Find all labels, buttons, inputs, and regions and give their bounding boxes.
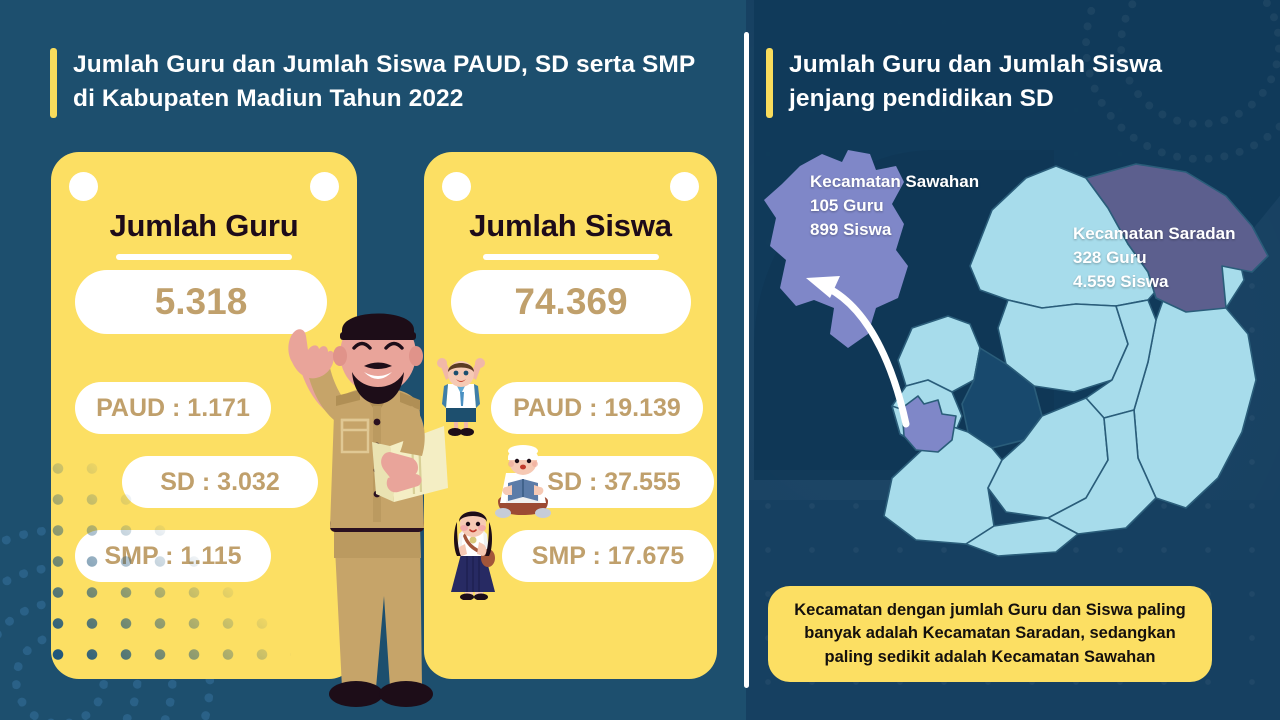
card-siswa-underline xyxy=(483,254,659,260)
title-accent-bar-right xyxy=(766,48,773,118)
punch-hole-icon xyxy=(442,172,471,201)
map-label-saradan-name: Kecamatan Saradan xyxy=(1073,222,1280,246)
left-title-block: Jumlah Guru dan Jumlah Siswa PAUD, SD se… xyxy=(50,48,710,118)
punch-hole-icon xyxy=(670,172,699,201)
card-siswa-total-value: 74.369 xyxy=(451,270,691,334)
student-paud-illustration xyxy=(430,358,492,436)
card-guru-title: Jumlah Guru xyxy=(51,208,357,244)
infographic-canvas: Jumlah Guru dan Jumlah Siswa PAUD, SD se… xyxy=(0,0,1280,720)
title-accent-bar-left xyxy=(50,48,57,118)
card-siswa-title: Jumlah Siswa xyxy=(424,208,717,244)
card-guru-row-paud: PAUD : 1.171 xyxy=(75,382,271,434)
map-caption: Kecamatan dengan jumlah Guru dan Siswa p… xyxy=(768,586,1212,682)
card-siswa-row-smp: SMP : 17.675 xyxy=(502,530,714,582)
map-label-saradan-siswa: 4.559 Siswa xyxy=(1073,270,1280,294)
right-title-text: Jumlah Guru dan Jumlah Siswa jenjang pen… xyxy=(789,48,1236,116)
left-title-text: Jumlah Guru dan Jumlah Siswa PAUD, SD se… xyxy=(73,48,710,116)
map-label-sawahan-name: Kecamatan Sawahan xyxy=(810,170,1040,194)
map-label-sawahan-siswa: 899 Siswa xyxy=(810,218,1040,242)
card-guru-row-smp: SMP : 1.115 xyxy=(75,530,271,582)
card-guru-underline xyxy=(116,254,292,260)
student-smp-illustration xyxy=(443,508,503,600)
vertical-divider xyxy=(744,32,749,688)
card-siswa-row-paud: PAUD : 19.139 xyxy=(491,382,703,434)
punch-hole-icon xyxy=(310,172,339,201)
map-label-saradan: Kecamatan Saradan 328 Guru 4.559 Siswa xyxy=(1073,222,1280,294)
punch-hole-icon xyxy=(69,172,98,201)
map-label-sawahan-guru: 105 Guru xyxy=(810,194,1040,218)
map-district-west xyxy=(898,316,980,392)
map-label-saradan-guru: 328 Guru xyxy=(1073,246,1280,270)
map-label-sawahan: Kecamatan Sawahan 105 Guru 899 Siswa xyxy=(810,170,1040,242)
right-title-block: Jumlah Guru dan Jumlah Siswa jenjang pen… xyxy=(766,48,1236,118)
